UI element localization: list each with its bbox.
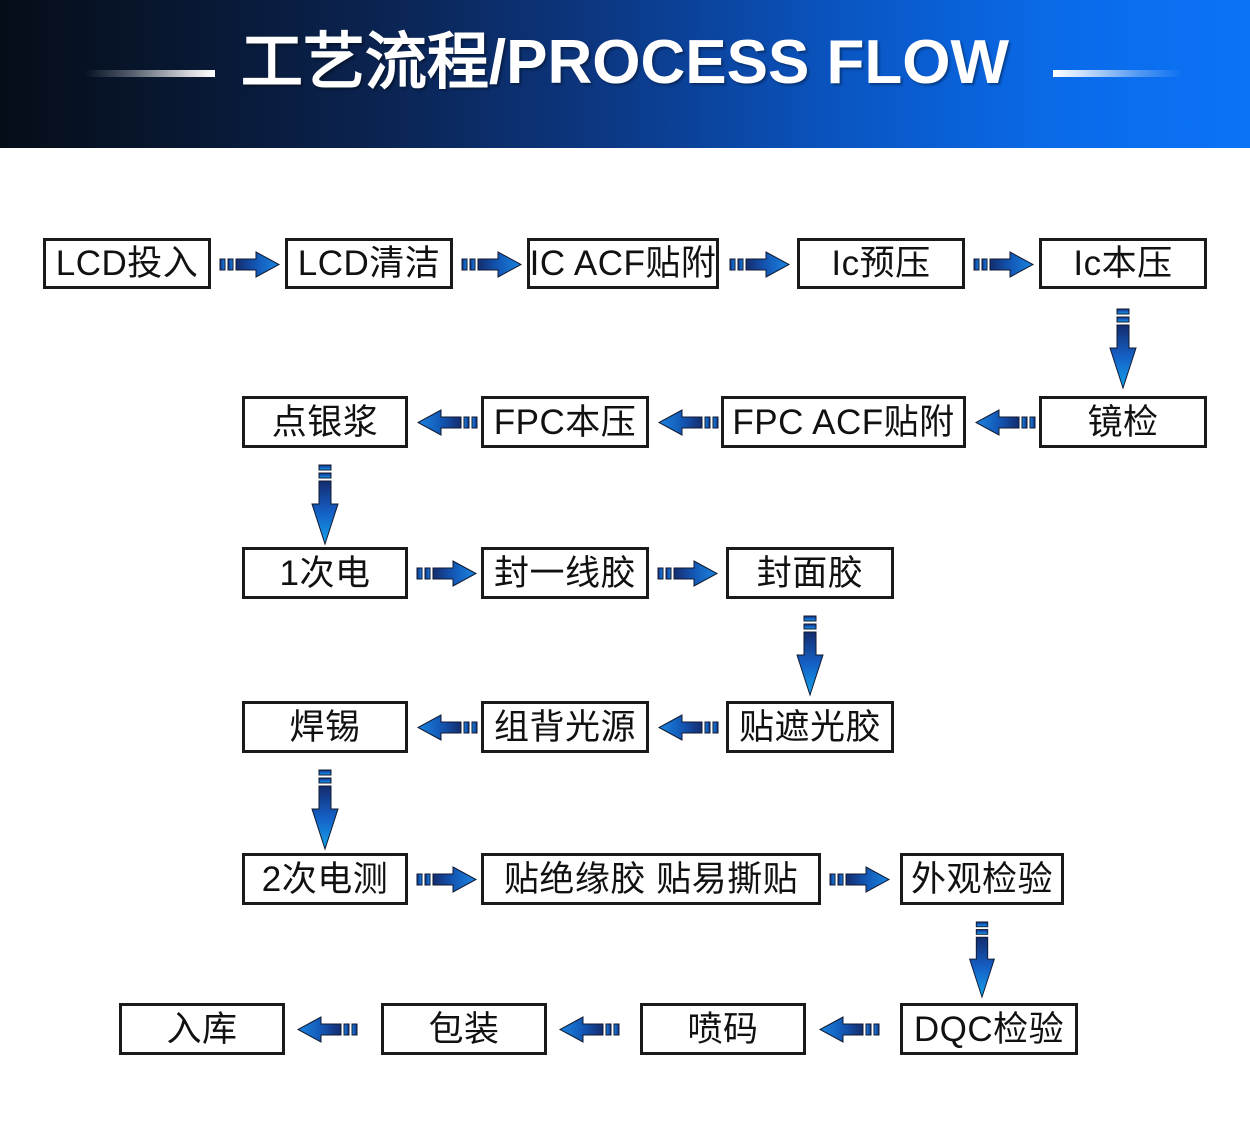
arrow-right-seal-line-glue-to-seal-face-glue (657, 559, 719, 587)
node-label: LCD投入 (56, 246, 199, 281)
node-packing[interactable]: 包装 (381, 1003, 547, 1055)
node-label: Ic本压 (1073, 246, 1172, 281)
arrow-right-ic-prebond-to-ic-mainbond (973, 250, 1035, 278)
node-label: 1次电 (280, 556, 371, 591)
arrow-right-second-power-test-to-insulation-tape (416, 865, 478, 893)
page-title: 工艺流程/PROCESS FLOW (0, 22, 1250, 104)
node-lcd-clean[interactable]: LCD清洁 (285, 238, 453, 289)
node-label: IC ACF贴附 (530, 246, 717, 281)
banner-inner: 工艺流程/PROCESS FLOW (0, 0, 1250, 148)
node-ic-mainbond[interactable]: Ic本压 (1039, 238, 1207, 289)
arrow-right-lcd-clean-to-ic-acf-attach (461, 250, 523, 278)
node-label: 外观检验 (911, 862, 1053, 897)
node-label: 镜检 (1087, 405, 1158, 440)
node-label: DQC检验 (914, 1012, 1064, 1047)
node-label: FPC ACF贴附 (732, 405, 954, 440)
node-ic-acf-attach[interactable]: IC ACF贴附 (527, 238, 719, 289)
node-label: 点银浆 (272, 405, 379, 440)
node-seal-line-glue[interactable]: 封一线胶 (481, 547, 649, 599)
node-seal-face-glue[interactable]: 封面胶 (726, 547, 894, 599)
node-label: 包装 (428, 1012, 499, 1047)
node-silver-paste[interactable]: 点银浆 (242, 396, 408, 448)
node-label: LCD清洁 (298, 246, 441, 281)
arrow-down-ic-mainbond-to-scope-check (1108, 308, 1138, 390)
node-soldering[interactable]: 焊锡 (242, 701, 408, 753)
arrow-down-soldering-to-second-power-test (310, 769, 340, 851)
node-fpc-acf-attach[interactable]: FPC ACF贴附 (721, 396, 966, 448)
node-label: 封一线胶 (494, 556, 636, 591)
arrow-left-code-spray-to-packing (558, 1015, 620, 1043)
arrow-left-shading-glue-to-backlight-assy (657, 713, 719, 741)
node-code-spray[interactable]: 喷码 (640, 1003, 806, 1055)
node-label: 喷码 (687, 1012, 758, 1047)
process-flow-page: 工艺流程/PROCESS FLOW LCD投入 LCD清洁 (0, 0, 1250, 1126)
arrow-down-appearance-check-to-dqc-check (967, 921, 997, 999)
arrow-right-lcd-input-to-lcd-clean (219, 250, 281, 278)
node-label: 入库 (166, 1012, 237, 1047)
node-fpc-mainbond[interactable]: FPC本压 (481, 396, 649, 448)
node-backlight-assy[interactable]: 组背光源 (481, 701, 649, 753)
arrow-left-fpc-mainbond-to-silver-paste (416, 408, 478, 436)
node-label: 贴遮光胶 (739, 710, 881, 745)
header-banner: 工艺流程/PROCESS FLOW (0, 0, 1250, 148)
node-insulation-tape[interactable]: 贴绝缘胶 贴易撕贴 (481, 853, 821, 905)
node-ic-prebond[interactable]: Ic预压 (797, 238, 965, 289)
arrow-left-backlight-assy-to-soldering (416, 713, 478, 741)
node-scope-check[interactable]: 镜检 (1039, 396, 1207, 448)
arrow-left-dqc-check-to-code-spray (818, 1015, 880, 1043)
arrow-left-scope-check-to-fpc-acf-attach (974, 408, 1036, 436)
node-shading-glue[interactable]: 贴遮光胶 (726, 701, 894, 753)
node-label: 封面胶 (757, 556, 864, 591)
arrow-down-seal-face-glue-to-shading-glue (795, 615, 825, 697)
node-appearance-check[interactable]: 外观检验 (900, 853, 1064, 905)
node-label: 贴绝缘胶 贴易撕贴 (504, 862, 798, 897)
node-label: FPC本压 (494, 405, 637, 440)
node-dqc-check[interactable]: DQC检验 (900, 1003, 1078, 1055)
arrow-left-packing-to-warehouse (296, 1015, 358, 1043)
node-first-power[interactable]: 1次电 (242, 547, 408, 599)
node-label: 组背光源 (494, 710, 636, 745)
node-second-power-test[interactable]: 2次电测 (242, 853, 408, 905)
arrow-left-fpc-acf-attach-to-fpc-mainbond (657, 408, 719, 436)
node-warehouse[interactable]: 入库 (119, 1003, 285, 1055)
arrow-right-insulation-tape-to-appearance-check (829, 865, 891, 893)
node-label: Ic预压 (831, 246, 930, 281)
arrow-down-silver-paste-to-first-power (310, 464, 340, 546)
arrow-right-first-power-to-seal-line-glue (416, 559, 478, 587)
arrow-right-ic-acf-attach-to-ic-prebond (729, 250, 791, 278)
node-label: 2次电测 (262, 862, 388, 897)
node-lcd-input[interactable]: LCD投入 (43, 238, 211, 289)
node-label: 焊锡 (289, 710, 360, 745)
